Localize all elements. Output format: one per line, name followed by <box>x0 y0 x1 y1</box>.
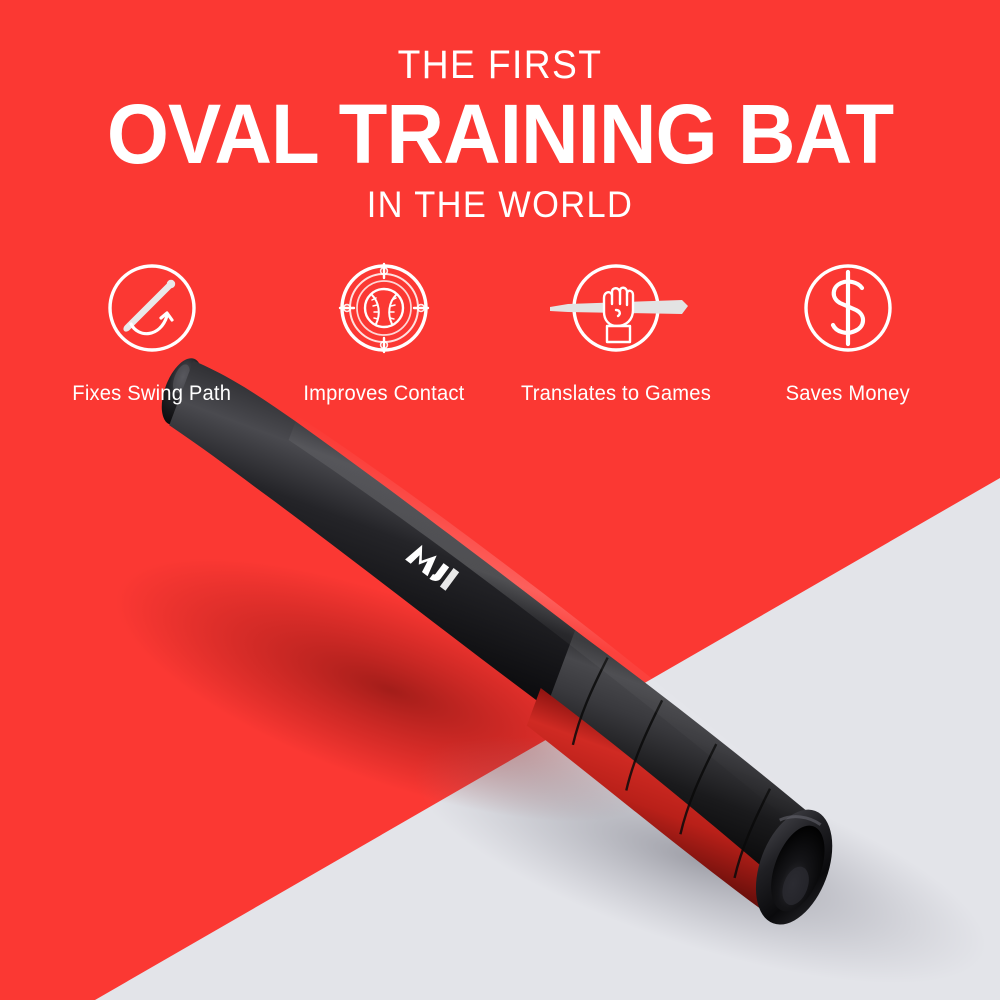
feature-label: Saves Money <box>786 382 910 406</box>
page-title: OVAL TRAINING BAT <box>25 92 975 178</box>
headline-eyebrow: THE FIRST <box>35 44 965 86</box>
feature-item-saves-money: Saves Money <box>732 262 964 406</box>
dollar-sign-icon <box>796 262 900 366</box>
feature-label: Fixes Swing Path <box>73 382 232 406</box>
swing-path-icon <box>100 262 204 366</box>
fist-grip-bat-icon <box>564 262 668 366</box>
headline-block: THE FIRST OVAL TRAINING BAT IN THE WORLD <box>0 44 1000 225</box>
feature-label: Improves Contact <box>303 382 464 406</box>
promo-canvas: THE FIRST OVAL TRAINING BAT IN THE WORLD <box>0 0 1000 1000</box>
target-baseball-icon <box>332 262 436 366</box>
feature-item-improves-contact: Improves Contact <box>268 262 500 406</box>
feature-item-translates-to-games: Translates to Games <box>500 262 732 406</box>
headline-subtitle: IN THE WORLD <box>35 186 965 225</box>
feature-list: Fixes Swing Path <box>0 262 1000 406</box>
bat-cast-shadow <box>86 504 1000 1000</box>
feature-item-fixes-swing-path: Fixes Swing Path <box>36 262 268 406</box>
feature-label: Translates to Games <box>521 382 711 406</box>
